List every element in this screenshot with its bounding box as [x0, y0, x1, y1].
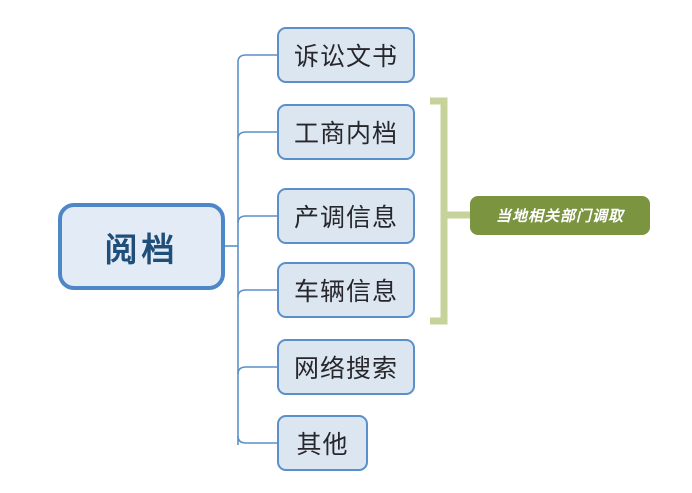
- child-node-chandiao[interactable]: 产调信息: [277, 188, 415, 244]
- connector-branch-6: [238, 436, 277, 443]
- child-node-soyi[interactable]: 诉讼文书: [277, 27, 415, 83]
- connector-branch-4: [238, 290, 277, 297]
- group-bracket: [430, 101, 444, 321]
- child-node-qita[interactable]: 其他: [277, 415, 368, 471]
- annotation-label[interactable]: 当地相关部门调取: [470, 196, 650, 235]
- child-node-cheliang[interactable]: 车辆信息: [277, 262, 415, 318]
- connector-branch-1: [238, 55, 277, 63]
- root-node[interactable]: 阅档: [58, 203, 225, 290]
- mindmap-canvas: 阅档 诉讼文书 工商内档 产调信息 车辆信息 网络搜索 其他 当地相关部门调取: [0, 0, 692, 493]
- child-node-gongshang[interactable]: 工商内档: [277, 104, 415, 160]
- connector-branch-2: [238, 132, 277, 139]
- connector-branch-5: [238, 367, 277, 374]
- connector-branch-3: [238, 216, 277, 223]
- child-node-wangluo[interactable]: 网络搜索: [277, 339, 415, 395]
